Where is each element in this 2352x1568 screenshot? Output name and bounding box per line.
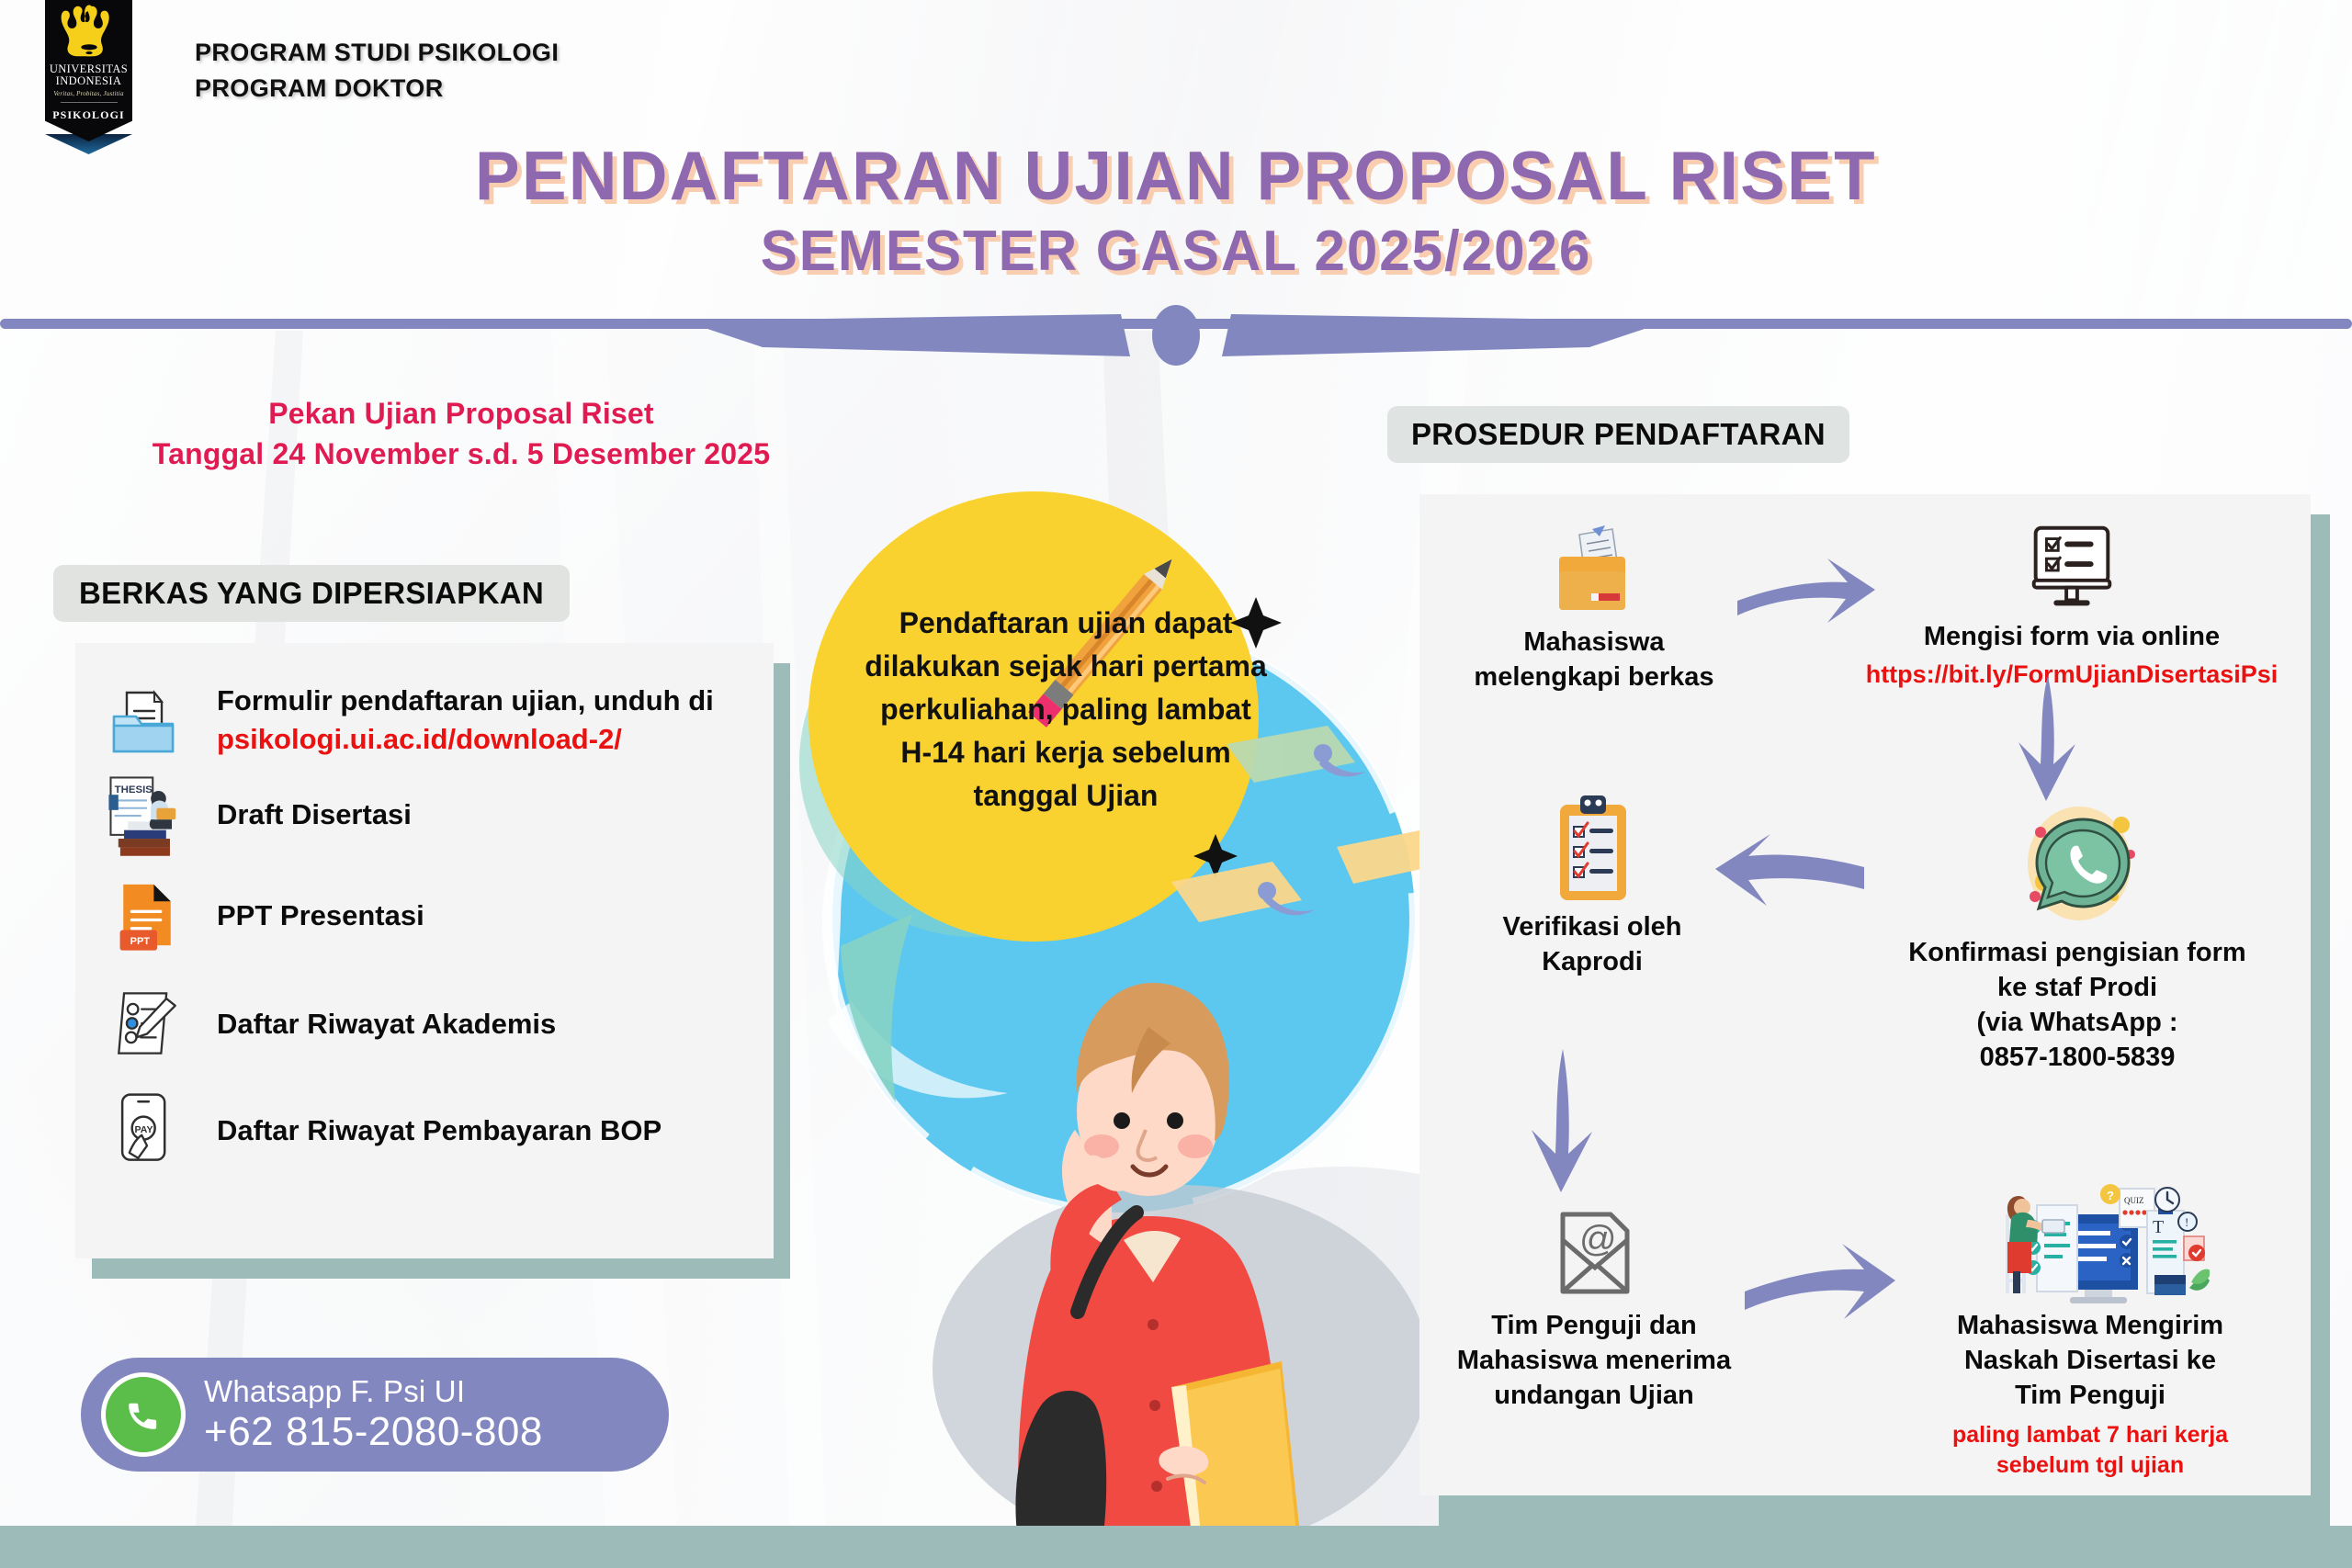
svg-text:?: ? bbox=[2107, 1189, 2114, 1202]
step-5-caption: Tim Penguji dan Mahasiswa menerima undan… bbox=[1429, 1308, 1759, 1413]
bottom-accent-band bbox=[0, 1526, 2352, 1568]
folder-document-icon bbox=[97, 671, 197, 770]
step-6-line-2: Naskah Disertasi ke bbox=[1897, 1343, 2283, 1378]
logo-faculty-name: PSIKOLOGI bbox=[52, 108, 125, 122]
ui-logo-badge: UNIVERSITAS INDONESIA Veritas, Probitas,… bbox=[45, 0, 132, 141]
thesis-books-icon: THESIS bbox=[97, 764, 197, 863]
clipboard-check-icon bbox=[1445, 790, 1739, 909]
program-line-1: PROGRAM STUDI PSIKOLOGI bbox=[195, 35, 559, 71]
svg-text:!: ! bbox=[2185, 1215, 2188, 1229]
phone-pay-icon: PAY bbox=[97, 1080, 197, 1179]
exam-week-block: Pekan Ujian Proposal Riset Tanggal 24 No… bbox=[57, 393, 865, 474]
procedure-card: Mahasiswa melengkapi berkas Mengisi form… bbox=[1419, 494, 2311, 1495]
step-6-deadline-line-2: sebelum tgl ujian bbox=[1897, 1450, 2283, 1481]
step-4-caption: Verifikasi oleh Kaprodi bbox=[1445, 909, 1739, 979]
step-1-line-1: Mahasiswa bbox=[1456, 625, 1732, 660]
note-line-5: tanggal Ujian bbox=[818, 774, 1314, 818]
email-envelope-icon: @ bbox=[1429, 1200, 1759, 1308]
whatsapp-number: +62 815-2080-808 bbox=[204, 1409, 543, 1455]
procedure-step-3: Konfirmasi pengisian form ke staf Prodi … bbox=[1866, 797, 2289, 1075]
svg-text:THESIS: THESIS bbox=[115, 784, 153, 795]
step-6-deadline-note: paling lambat 7 hari kerja sebelum tgl u… bbox=[1897, 1420, 2283, 1481]
step-3-whatsapp-number: 0857-1800-5839 bbox=[1866, 1040, 2289, 1075]
svg-text:T: T bbox=[2153, 1217, 2164, 1237]
step-1-line-2: melengkapi berkas bbox=[1456, 660, 1732, 694]
step-5-line-3: undangan Ujian bbox=[1429, 1378, 1759, 1413]
orange-folder-icon bbox=[1456, 524, 1732, 625]
exam-week-line-2: Tanggal 24 November s.d. 5 Desember 2025 bbox=[57, 434, 865, 474]
procedure-step-6: QUIZ T ! ? bbox=[1897, 1179, 2283, 1481]
bowtie-divider-ornament bbox=[707, 303, 1645, 367]
logo-divider bbox=[61, 102, 118, 103]
step-6-line-1: Mahasiswa Mengirim bbox=[1897, 1308, 2283, 1343]
step-4-line-2: Kaprodi bbox=[1445, 944, 1739, 979]
step-2-caption: Mengisi form via online bbox=[1851, 619, 2292, 654]
list-item-label: Formulir pendaftaran ujian, unduh di bbox=[217, 682, 714, 719]
registration-note: Pendaftaran ujian dapat dilakukan sejak … bbox=[818, 602, 1314, 818]
monitor-checklist-icon bbox=[1851, 518, 2292, 619]
note-line-1: Pendaftaran ujian dapat bbox=[818, 602, 1314, 645]
note-line-2: dilakukan sejak hari pertama bbox=[818, 645, 1314, 688]
list-item: PAY Daftar Riwayat Pembayaran BOP bbox=[75, 1080, 774, 1179]
procedure-card-bottom-band bbox=[1439, 1492, 2330, 1529]
procedure-step-2: Mengisi form via online https://bit.ly/F… bbox=[1851, 518, 2292, 691]
arrow-down-icon-1 bbox=[2007, 674, 2090, 803]
procedure-section-heading: PROSEDUR PENDAFTARAN bbox=[1387, 406, 1849, 463]
makara-icon bbox=[59, 3, 119, 60]
list-item: THESIS Draft Disertasi bbox=[75, 764, 774, 863]
step-5-line-2: Mahasiswa menerima bbox=[1429, 1343, 1759, 1378]
whatsapp-icon bbox=[1866, 797, 2289, 935]
whatsapp-label: Whatsapp F. Psi UI bbox=[204, 1374, 543, 1409]
procedure-step-4: Verifikasi oleh Kaprodi bbox=[1445, 790, 1739, 979]
step-4-line-1: Verifikasi oleh bbox=[1445, 909, 1739, 944]
logo-university-name: UNIVERSITAS INDONESIA bbox=[50, 63, 128, 87]
step-3-line-2: ke staf Prodi bbox=[1866, 970, 2289, 1005]
step-3-caption: Konfirmasi pengisian form ke staf Prodi … bbox=[1866, 935, 2289, 1075]
procedure-step-5: @ Tim Penguji dan Mahasiswa menerima und… bbox=[1429, 1200, 1759, 1413]
step-3-line-3: (via WhatsApp : bbox=[1866, 1005, 2289, 1040]
logo-motto: Veritas, Probitas, Justitia bbox=[53, 90, 123, 97]
program-line-2: PROGRAM DOKTOR bbox=[195, 71, 559, 107]
list-item-label: Daftar Riwayat Akademis bbox=[217, 1005, 556, 1043]
list-item-label: Daftar Riwayat Pembayaran BOP bbox=[217, 1111, 661, 1149]
list-item-label: Draft Disertasi bbox=[217, 795, 412, 833]
page-subtitle: SEMESTER GASAL 2025/2026 bbox=[35, 219, 2316, 284]
step-1-caption: Mahasiswa melengkapi berkas bbox=[1456, 625, 1732, 694]
svg-text:@: @ bbox=[1579, 1219, 1617, 1259]
list-item-label: PPT Presentasi bbox=[217, 897, 424, 934]
form-pen-icon bbox=[97, 974, 197, 1073]
step-6-caption: Mahasiswa Mengirim Naskah Disertasi ke T… bbox=[1897, 1308, 2283, 1413]
documents-section-heading: BERKAS YANG DIPERSIAPKAN bbox=[53, 565, 570, 622]
list-item: Daftar Riwayat Akademis bbox=[75, 974, 774, 1073]
step-5-line-1: Tim Penguji dan bbox=[1429, 1308, 1759, 1343]
step-3-line-1: Konfirmasi pengisian form bbox=[1866, 935, 2289, 970]
program-heading: PROGRAM STUDI PSIKOLOGI PROGRAM DOKTOR bbox=[195, 35, 559, 107]
download-link[interactable]: psikologi.ui.ac.id/download-2/ bbox=[217, 719, 714, 760]
svg-text:QUIZ: QUIZ bbox=[2124, 1196, 2144, 1205]
step-6-line-3: Tim Penguji bbox=[1897, 1378, 2283, 1413]
whatsapp-phone-icon bbox=[101, 1372, 186, 1457]
step-6-deadline-line-1: paling lambat 7 hari kerja bbox=[1897, 1420, 2283, 1450]
page-title: PENDAFTARAN UJIAN PROPOSAL RISET bbox=[35, 136, 2316, 215]
online-learning-icon: QUIZ T ! ? bbox=[1897, 1179, 2283, 1308]
procedure-step-1: Mahasiswa melengkapi berkas bbox=[1456, 524, 1732, 694]
svg-text:PPT: PPT bbox=[130, 936, 151, 947]
arrow-down-icon-2 bbox=[1521, 1045, 1609, 1192]
note-line-3: perkuliahan, paling lambat bbox=[818, 688, 1314, 731]
arrow-right-icon-2 bbox=[1739, 1236, 1895, 1328]
whatsapp-contact-pill[interactable]: Whatsapp F. Psi UI +62 815-2080-808 bbox=[81, 1358, 669, 1472]
exam-week-line-1: Pekan Ujian Proposal Riset bbox=[57, 393, 865, 434]
ppt-file-icon: PPT bbox=[97, 865, 197, 964]
documents-card: Formulir pendaftaran ujian, unduh di psi… bbox=[75, 643, 774, 1258]
list-item: PPT PPT Presentasi bbox=[75, 865, 774, 964]
list-item: Formulir pendaftaran ujian, unduh di psi… bbox=[75, 671, 774, 770]
svg-text:PAY: PAY bbox=[135, 1124, 153, 1135]
note-line-4: H-14 hari kerja sebelum bbox=[818, 731, 1314, 774]
